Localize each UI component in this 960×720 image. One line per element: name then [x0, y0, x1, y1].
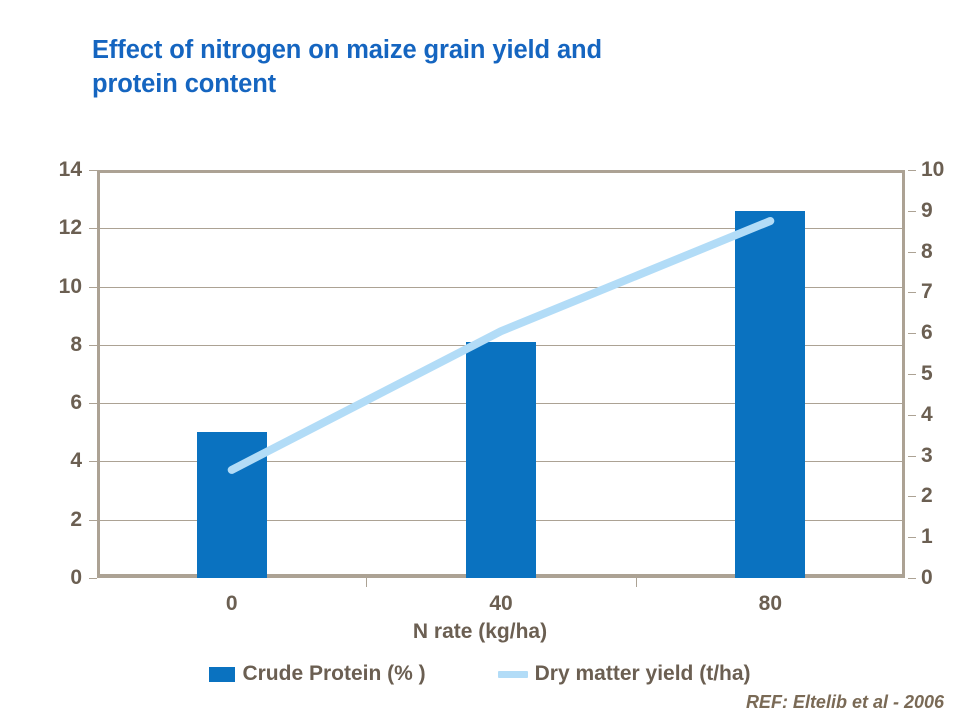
chart-title: Effect of nitrogen on maize grain yield … — [92, 34, 792, 102]
y-axis-left-label: 10 — [12, 275, 82, 299]
y-axis-right-label: 9 — [921, 199, 960, 223]
y-axis-right-label: 8 — [921, 240, 960, 264]
y-axis-left-tick — [89, 461, 97, 462]
x-axis-title: N rate (kg/ha) — [0, 620, 960, 644]
y-axis-right-label: 1 — [921, 525, 960, 549]
legend-label-dry-matter-yield: Dry matter yield (t/ha) — [535, 662, 751, 686]
y-axis-right-label: 3 — [921, 444, 960, 468]
y-axis-left-tick — [89, 170, 97, 171]
y-axis-right-tick — [908, 456, 916, 457]
y-axis-left-label: 4 — [12, 449, 82, 473]
y-axis-right-label: 7 — [921, 280, 960, 304]
y-axis-right-tick — [908, 578, 916, 579]
bar-0[interactable] — [197, 432, 267, 578]
y-axis-left-tick — [89, 578, 97, 579]
x-axis-tick — [636, 578, 637, 587]
legend-item-dry-matter-yield[interactable]: Dry matter yield (t/ha) — [498, 662, 751, 686]
legend-bar-swatch-icon — [209, 667, 235, 682]
y-axis-right-tick — [908, 292, 916, 293]
y-axis-right-label: 0 — [921, 566, 960, 590]
x-axis-category-label: 80 — [710, 592, 830, 616]
legend-line-swatch-icon — [498, 671, 528, 678]
y-axis-right-tick — [908, 252, 916, 253]
y-axis-left-tick — [89, 287, 97, 288]
y-axis-right-label: 5 — [921, 362, 960, 386]
y-axis-left-label: 12 — [12, 216, 82, 240]
y-axis-right-label: 6 — [921, 321, 960, 345]
chart-container: Effect of nitrogen on maize grain yield … — [0, 0, 960, 720]
y-axis-left-label: 2 — [12, 508, 82, 532]
y-axis-right-label: 2 — [921, 484, 960, 508]
y-axis-right-tick — [908, 537, 916, 538]
legend-item-crude-protein[interactable]: Crude Protein (% ) — [209, 662, 425, 686]
y-axis-left-tick — [89, 345, 97, 346]
y-axis-left-tick — [89, 228, 97, 229]
y-axis-right-tick — [908, 496, 916, 497]
y-axis-left-tick — [89, 520, 97, 521]
y-axis-left-label: 8 — [12, 333, 82, 357]
reference-note: REF: Eltelib et al - 2006 — [746, 692, 944, 713]
y-axis-right-tick — [908, 211, 916, 212]
y-axis-left-label: 0 — [12, 566, 82, 590]
legend-label-crude-protein: Crude Protein (% ) — [242, 662, 425, 686]
x-axis-tick — [366, 578, 367, 587]
y-axis-right-tick — [908, 415, 916, 416]
y-axis-left-label: 14 — [12, 158, 82, 182]
y-axis-right-label: 10 — [921, 158, 960, 182]
bar-80[interactable] — [735, 211, 805, 578]
y-axis-left-label: 6 — [12, 391, 82, 415]
y-axis-right-tick — [908, 333, 916, 334]
y-axis-right-label: 4 — [921, 403, 960, 427]
y-axis-right-tick — [908, 374, 916, 375]
y-axis-right-tick — [908, 170, 916, 171]
bar-40[interactable] — [466, 342, 536, 578]
y-axis-left-tick — [89, 403, 97, 404]
chart-legend: Crude Protein (% ) Dry matter yield (t/h… — [0, 662, 960, 686]
x-axis-category-label: 40 — [441, 592, 561, 616]
x-axis-category-label: 0 — [172, 592, 292, 616]
